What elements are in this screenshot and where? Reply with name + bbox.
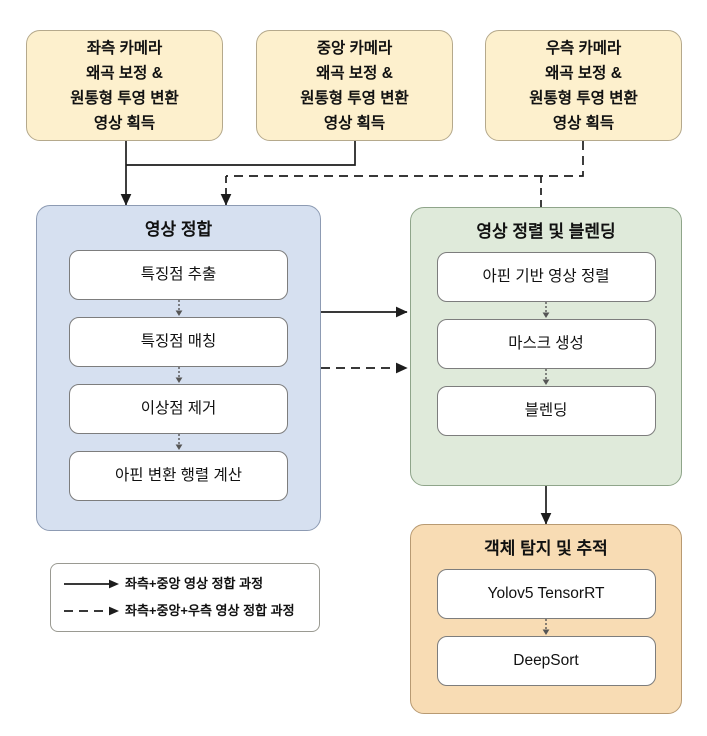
legend-row-dashed: 좌측+중앙+우측 영상 정합 과정 [51, 597, 319, 624]
step-yolov5-tensorrt[interactable]: Yolov5 TensorRT [437, 569, 656, 619]
solid-arrow-icon [63, 577, 125, 591]
camera-right-line-3: 원통형 투영 변환 [529, 86, 637, 111]
step-affine-based-alignment[interactable]: 아핀 기반 영상 정렬 [437, 252, 656, 302]
dotted-down-arrow-icon [173, 367, 185, 384]
dashed-arrow-icon [63, 604, 125, 618]
camera-left-line-4: 영상 획득 [94, 111, 155, 136]
step-feature-extraction[interactable]: 특징점 추출 [69, 250, 288, 300]
group-object-detection-tracking[interactable]: 객체 탐지 및 추적 Yolov5 TensorRT DeepSort [410, 524, 682, 714]
step-affine-matrix-computation[interactable]: 아핀 변환 행렬 계산 [69, 451, 288, 501]
stitching-step-list: 특징점 추출 특징점 매칭 이상점 제거 아핀 변환 행렬 계산 [37, 250, 320, 501]
camera-right-line-1: 우측 카메라 [546, 36, 622, 61]
camera-left-line-2: 왜곡 보정 & [86, 61, 163, 86]
camera-right-line-4: 영상 획득 [553, 111, 614, 136]
group-title-image-alignment-blending: 영상 정렬 및 블렌딩 [476, 222, 615, 242]
dotted-down-arrow-icon [540, 369, 552, 386]
connector-gap [411, 302, 681, 319]
line-right-cam-bus [226, 141, 583, 176]
connector-gap [37, 300, 320, 317]
line-center-cam-to-left-join [126, 141, 355, 165]
legend-label-dashed: 좌측+중앙+우측 영상 정합 과정 [125, 604, 295, 618]
group-title-image-stitching: 영상 정합 [145, 220, 212, 240]
step-mask-generation[interactable]: 마스크 생성 [437, 319, 656, 369]
camera-center-line-2: 왜곡 보정 & [316, 61, 393, 86]
connector-gap [37, 434, 320, 451]
dotted-down-arrow-icon [540, 619, 552, 636]
camera-center-line-4: 영상 획득 [324, 111, 385, 136]
legend-label-solid: 좌측+중앙 영상 정합 과정 [125, 577, 263, 591]
alignment-step-list: 아핀 기반 영상 정렬 마스크 생성 블렌딩 [411, 252, 681, 436]
group-image-stitching[interactable]: 영상 정합 특징점 추출 특징점 매칭 이상점 제거 아핀 변환 행렬 계산 [36, 205, 321, 531]
camera-box-right[interactable]: 우측 카메라 왜곡 보정 & 원통형 투영 변환 영상 획득 [485, 30, 682, 141]
camera-left-line-3: 원통형 투영 변환 [70, 86, 178, 111]
dotted-down-arrow-icon [173, 300, 185, 317]
dotted-down-arrow-icon [173, 434, 185, 451]
detection-step-list: Yolov5 TensorRT DeepSort [411, 569, 681, 686]
step-feature-matching[interactable]: 특징점 매칭 [69, 317, 288, 367]
connector-gap [37, 367, 320, 384]
group-image-alignment-blending[interactable]: 영상 정렬 및 블렌딩 아핀 기반 영상 정렬 마스크 생성 블렌딩 [410, 207, 682, 486]
camera-right-line-2: 왜곡 보정 & [545, 61, 622, 86]
camera-center-line-1: 중앙 카메라 [317, 36, 393, 61]
connector-gap [411, 369, 681, 386]
camera-box-center[interactable]: 중앙 카메라 왜곡 보정 & 원통형 투영 변환 영상 획득 [256, 30, 453, 141]
legend-row-solid: 좌측+중앙 영상 정합 과정 [51, 570, 319, 597]
connector-gap [411, 619, 681, 636]
group-title-object-detection-tracking: 객체 탐지 및 추적 [484, 539, 608, 559]
step-blending[interactable]: 블렌딩 [437, 386, 656, 436]
legend: 좌측+중앙 영상 정합 과정 좌측+중앙+우측 영상 정합 과정 [50, 563, 320, 632]
step-deepsort[interactable]: DeepSort [437, 636, 656, 686]
camera-left-line-1: 좌측 카메라 [87, 36, 163, 61]
camera-center-line-3: 원통형 투영 변환 [300, 86, 408, 111]
dotted-down-arrow-icon [540, 302, 552, 319]
step-outlier-removal[interactable]: 이상점 제거 [69, 384, 288, 434]
camera-box-left[interactable]: 좌측 카메라 왜곡 보정 & 원통형 투영 변환 영상 획득 [26, 30, 223, 141]
